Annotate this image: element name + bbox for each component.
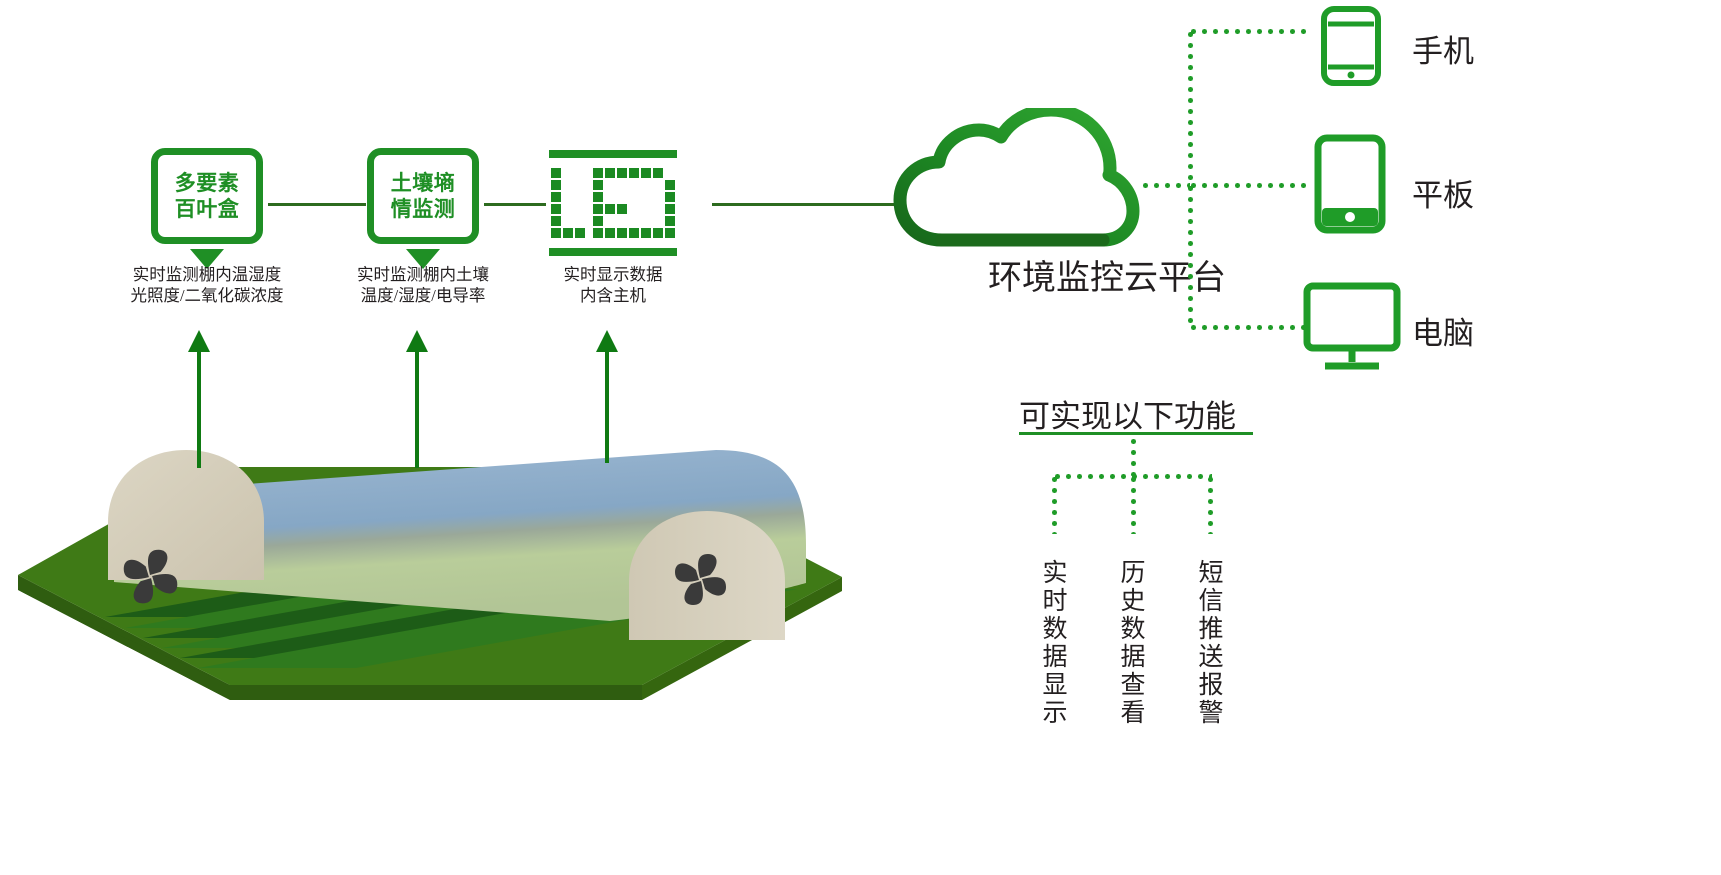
connector-card2-led xyxy=(484,203,546,206)
caption-line-2: 温度/湿度/电导率 xyxy=(293,285,553,306)
arrow-line-1 xyxy=(197,348,201,468)
functions-heading: 可实现以下功能 xyxy=(1019,391,1236,436)
connector-led-cloud xyxy=(712,203,902,206)
led-bottom-bar xyxy=(549,248,677,256)
dotted-cloud-to-bus xyxy=(1140,183,1190,188)
function-label-realtime-data-display: 实时数据显示 xyxy=(1040,543,1068,743)
dotted-device-bus xyxy=(1188,29,1193,329)
caption-line-1: 实时显示数据 xyxy=(523,264,703,285)
arrow-head-2 xyxy=(406,330,428,352)
sensor-card-multi-element-shelter-box[interactable]: 多要素 百叶盒 xyxy=(151,148,263,244)
device-label-computer: 电脑 xyxy=(1412,308,1474,353)
sensor-card-soil-moisture-monitor[interactable]: 土壤墒 情监测 xyxy=(367,148,479,244)
arrow-line-2 xyxy=(415,348,419,468)
dotted-functions-stem xyxy=(1131,436,1136,476)
dotted-branch-history xyxy=(1131,474,1136,534)
sensor-card-label-line1: 多要素 xyxy=(175,170,240,196)
dotted-branch-realtime xyxy=(1052,474,1057,534)
led-dot-matrix-display-icon[interactable] xyxy=(549,150,677,256)
caption-line-2: 内含主机 xyxy=(523,285,703,306)
led-glyph-matrix xyxy=(549,166,677,246)
device-label-phone: 手机 xyxy=(1412,26,1474,71)
desktop-monitor-icon[interactable] xyxy=(1303,282,1401,374)
arrow-line-3 xyxy=(605,348,609,463)
dotted-branch-sms xyxy=(1208,474,1213,534)
sensor-caption-led-display: 实时显示数据 内含主机 xyxy=(523,264,703,306)
sensor-card-label-line2: 百叶盒 xyxy=(175,196,240,222)
function-label-sms-push-alarm: 短信推送报警 xyxy=(1196,543,1224,743)
caption-line-1: 实时监测棚内土壤 xyxy=(293,264,553,285)
dotted-bus-to-computer xyxy=(1188,325,1310,330)
device-label-tablet: 平板 xyxy=(1412,170,1474,215)
cloud-icon[interactable] xyxy=(890,108,1140,253)
arrow-head-1 xyxy=(188,330,210,352)
functions-heading-rule xyxy=(1019,432,1253,435)
sensor-caption-soil-moisture-monitor: 实时监测棚内土壤 温度/湿度/电导率 xyxy=(293,264,553,306)
sensor-card-label-line1: 土壤墒 xyxy=(391,170,456,196)
led-top-bar xyxy=(549,150,677,158)
function-label-history-data-view: 历史数据查看 xyxy=(1118,543,1146,743)
sensor-card-label-line2: 情监测 xyxy=(391,196,456,222)
greenhouse-tunnel-illustration xyxy=(10,395,870,725)
tablet-icon[interactable] xyxy=(1314,134,1386,234)
connector-card1-card2 xyxy=(268,203,366,206)
dotted-bus-to-phone xyxy=(1188,29,1310,34)
mobile-phone-icon[interactable] xyxy=(1320,5,1382,87)
arrow-head-3 xyxy=(596,330,618,352)
dotted-bus-to-tablet xyxy=(1188,183,1310,188)
diagram-canvas: 多要素 百叶盒 实时监测棚内温湿度 光照度/二氧化碳浓度 土壤墒 情监测 实时监… xyxy=(0,0,1721,875)
